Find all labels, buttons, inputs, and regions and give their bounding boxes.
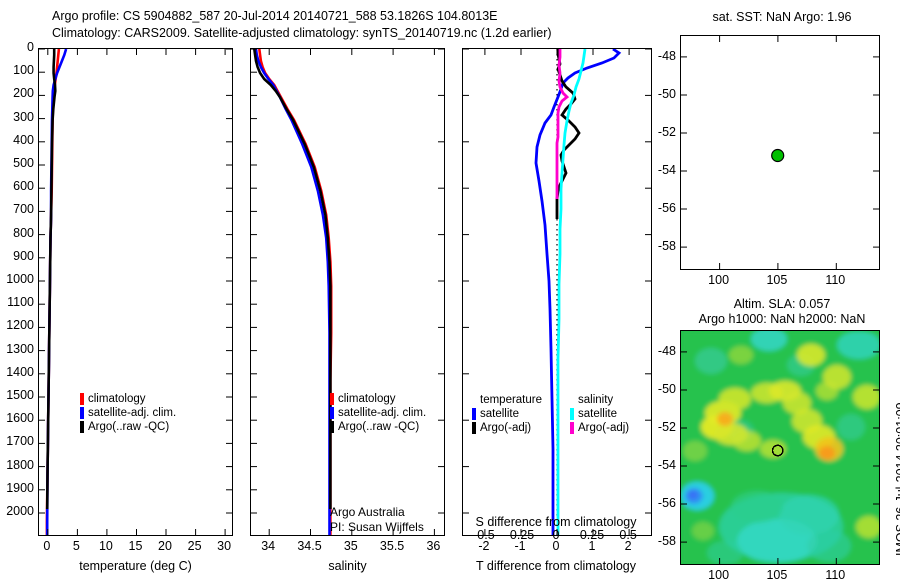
legend-label-salinity-argo-adj: Argo(-adj) [578,421,629,435]
xtick-5: 5 [73,539,80,553]
argo-australia-credit-line1: Argo Australia [330,505,405,520]
xtick-34-5: 34.5 [297,539,321,553]
figure-canvas: Argo profile: CS 5904882_587 20-Jul-2014… [0,0,900,580]
xtick-35: 35 [344,539,358,553]
legend-label-satellite-adj: satellite-adj. clim. [88,406,176,420]
temperature-panel-ticks [39,49,232,535]
difference-panel[interactable] [462,48,652,536]
sst-ytick-54: -54 [658,163,676,177]
legend-swatch-climatology-icon [330,393,334,405]
legend-item-satellite-adj: satellite-adj. clim. [80,406,176,420]
sla-ytick-56: -56 [658,496,676,510]
ytick-2000: 2000 [6,504,34,518]
ytick-0: 0 [27,40,34,54]
legend-item-salinity-argo-adj: Argo(-adj) [570,421,629,435]
ytick-100: 100 [13,63,34,77]
xtick-25: 25 [188,539,202,553]
xtick-30: 30 [217,539,231,553]
legend-header-salinity-label: salinity [578,393,613,407]
legend-swatch-salinity-argo-adj-icon [570,422,574,434]
xtick-34: 34 [261,539,275,553]
sst-ytick-56: -56 [658,201,676,215]
sla-ytick-52: -52 [658,420,676,434]
legend-label-argo-raw: Argo(..raw -QC) [338,420,419,434]
legend-item-satellite-adj: satellite-adj. clim. [330,406,426,420]
sst-map-title-text: sat. SST: NaN Argo: 1.96 [713,10,852,24]
ytick-600: 600 [13,179,34,193]
salinity-panel[interactable] [250,48,445,536]
sst-xtick-100: 100 [708,273,729,287]
legend-label-argo-raw: Argo(..raw -QC) [88,420,169,434]
sla-ytick-58: -58 [658,534,676,548]
sla-map-title-line2-text: Argo h1000: NaN h2000: NaN [699,312,866,326]
ytick-500: 500 [13,156,34,170]
salinity-panel-ticks [251,49,444,535]
legend-header-salinity: salinity [570,393,629,407]
ytick-800: 800 [13,226,34,240]
sst-xtick-105: 105 [766,273,787,287]
sla-map-title-line2: Argo h1000: NaN h2000: NaN [699,310,866,328]
sla-ytick-54: -54 [658,458,676,472]
ytick-1900: 1900 [6,481,34,495]
temperature-axis-label: temperature (deg C) [79,559,192,573]
legend-item-argo-raw: Argo(..raw -QC) [330,420,426,434]
legend-item-temperature-satellite: satellite [472,407,542,421]
legend-label-temperature-argo-adj: Argo(-adj) [480,421,531,435]
sst-ytick-50: -50 [658,87,676,101]
figure-title-line2: Climatology: CARS2009. Satellite-adjuste… [52,25,552,41]
legend-item-climatology: climatology [80,392,176,406]
difference-temperature-axis-label: T difference from climatology [476,559,636,573]
argo-pi-credit-line2: PI: Susan Wijffels [330,520,424,535]
legend-item-temperature-argo-adj: Argo(-adj) [472,421,542,435]
legend-item-climatology: climatology [330,392,426,406]
sla-map-panel[interactable] [680,330,880,565]
xtick-0: 0 [43,539,50,553]
legend-swatch-temperature-satellite-icon [472,408,476,420]
legend-label-salinity-satellite: satellite [578,407,617,421]
sst-xtick-110: 110 [825,273,845,287]
imos-timestamp: IMOS 26-Jul-2014 20:01:09 [894,402,900,556]
ytick-1600: 1600 [6,411,34,425]
xtick-20: 20 [158,539,172,553]
temperature-legend: climatology satellite-adj. clim. Argo(..… [80,392,176,434]
xtick-15: 15 [129,539,143,553]
ytick-1400: 1400 [6,365,34,379]
t-xtick-neg1: -1 [514,539,525,553]
sst-ytick-52: -52 [658,125,676,139]
t-xtick-1: 1 [589,539,596,553]
ytick-400: 400 [13,133,34,147]
figure-title-line1: Argo profile: CS 5904882_587 20-Jul-2014… [52,8,498,24]
temperature-panel[interactable] [38,48,233,536]
legend-swatch-salinity-satellite-icon [570,408,574,420]
salinity-axis-label: salinity [328,559,366,573]
legend-swatch-temperature-argo-adj-icon [472,422,476,434]
difference-legend-temperature: temperature satellite Argo(-adj) [472,393,542,435]
legend-label-temperature-satellite: satellite [480,407,519,421]
ytick-1800: 1800 [6,458,34,472]
t-xtick-2: 2 [625,539,632,553]
legend-header-temperature-label: temperature [480,393,542,407]
ytick-700: 700 [13,202,34,216]
xtick-35-5: 35.5 [380,539,404,553]
legend-swatch-argo-raw-icon [330,421,334,433]
t-xtick-neg2: -2 [478,539,489,553]
ytick-1300: 1300 [6,342,34,356]
ytick-200: 200 [13,86,34,100]
sst-map-title: sat. SST: NaN Argo: 1.96 [713,8,852,26]
xtick-36: 36 [426,539,440,553]
salinity-legend: climatology satellite-adj. clim. Argo(..… [330,392,426,434]
ytick-1000: 1000 [6,272,34,286]
sst-map-panel[interactable] [680,35,880,270]
sla-map-ticks [681,331,879,564]
legend-label-climatology: climatology [88,392,146,406]
legend-header-temperature: temperature [472,393,542,407]
legend-label-satellite-adj: satellite-adj. clim. [338,406,426,420]
ytick-300: 300 [13,110,34,124]
ytick-900: 900 [13,249,34,263]
legend-item-salinity-satellite: satellite [570,407,629,421]
legend-swatch-climatology-icon [80,393,84,405]
sla-map-title-line1-text: Altim. SLA: 0.057 [734,297,831,311]
legend-item-argo-raw: Argo(..raw -QC) [80,420,176,434]
s-difference-label: S difference from climatology [476,515,637,529]
sst-ytick-58: -58 [658,239,676,253]
ytick-1100: 1100 [7,295,34,309]
sst-map-ticks [681,36,879,269]
legend-swatch-satellite-adj-icon [330,407,334,419]
sla-ytick-50: -50 [658,382,676,396]
difference-legend-salinity: salinity satellite Argo(-adj) [570,393,629,435]
ytick-1200: 1200 [6,318,34,332]
legend-label-climatology: climatology [338,392,396,406]
sla-ytick-48: -48 [658,344,676,358]
difference-panel-ticks [463,49,651,535]
sst-ytick-48: -48 [658,49,676,63]
ytick-1500: 1500 [6,388,34,402]
xtick-10: 10 [99,539,113,553]
t-xtick-0: 0 [553,539,560,553]
legend-swatch-satellite-adj-icon [80,407,84,419]
legend-swatch-argo-raw-icon [80,421,84,433]
ytick-1700: 1700 [6,434,34,448]
